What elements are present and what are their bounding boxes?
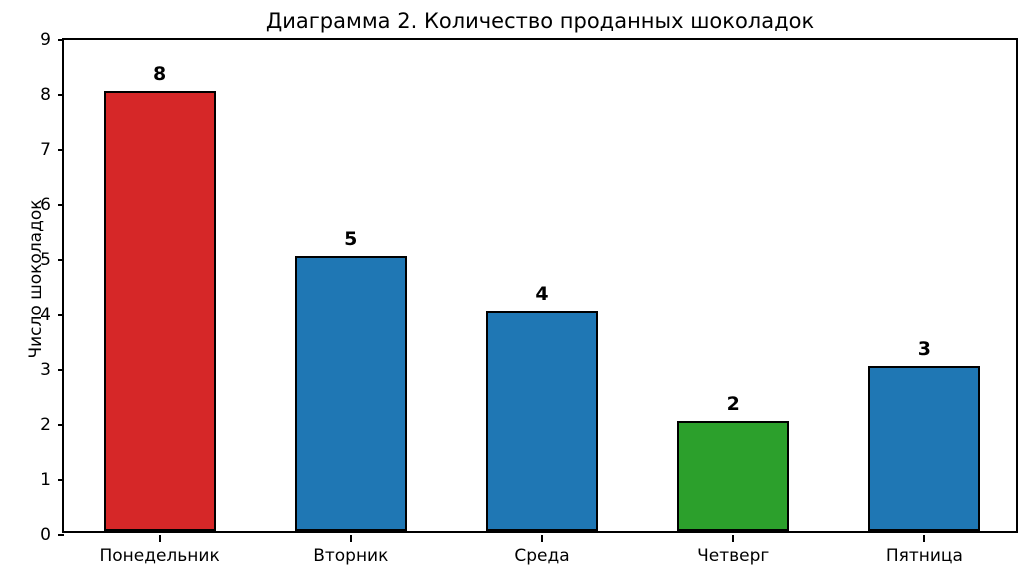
y-axis-tick-label: 9 (40, 29, 51, 51)
bar-value-label: 5 (295, 228, 407, 250)
bar-item[interactable]: 5 (295, 256, 407, 531)
y-axis-tick-label: 1 (40, 469, 51, 491)
bar-value-label: 8 (104, 63, 216, 85)
y-axis-tick-mark (58, 534, 65, 536)
y-axis-tick-mark (58, 479, 65, 481)
bar-item[interactable]: 3 (868, 366, 980, 531)
bar-item[interactable]: 8 (104, 91, 216, 531)
bar-rect[interactable] (486, 311, 598, 531)
y-axis-tick-mark (58, 259, 65, 261)
plot-area: 0123456789 ПонедельникВторникСредаЧетвер… (62, 38, 1018, 533)
bar-item[interactable]: 2 (677, 421, 789, 531)
x-axis-tick-mark (350, 535, 352, 542)
bar-value-label: 2 (677, 393, 789, 415)
y-axis-tick-label: 8 (40, 84, 51, 106)
y-axis-tick-mark (58, 204, 65, 206)
x-axis-tick-mark (732, 535, 734, 542)
bar-item[interactable]: 4 (486, 311, 598, 531)
bar-value-label: 4 (486, 283, 598, 305)
chart-title: Диаграмма 2. Количество проданных шокола… (62, 8, 1018, 34)
y-axis-tick-label: 7 (40, 139, 51, 161)
y-axis-tick-label: 5 (40, 249, 51, 271)
y-axis-tick-label: 0 (40, 524, 51, 546)
y-axis-tick-mark (58, 39, 65, 41)
y-axis-tick-mark (58, 424, 65, 426)
x-axis-tick-mark (541, 535, 543, 542)
bar-rect[interactable] (104, 91, 216, 531)
bar-value-label: 3 (868, 338, 980, 360)
y-axis-tick-mark (58, 149, 65, 151)
y-axis-tick-mark (58, 314, 65, 316)
y-axis-tick-mark (58, 369, 65, 371)
y-axis-tick-label: 3 (40, 359, 51, 381)
chart-figure: Диаграмма 2. Количество проданных шокола… (0, 0, 1034, 582)
x-axis-tick-label: Пятница (804, 546, 1034, 567)
y-axis-tick-label: 6 (40, 194, 51, 216)
y-axis-tick-mark (58, 94, 65, 96)
bar-rect[interactable] (677, 421, 789, 531)
y-axis-tick-label: 4 (40, 304, 51, 326)
x-axis-tick-mark (159, 535, 161, 542)
bar-rect[interactable] (868, 366, 980, 531)
y-axis-tick-label: 2 (40, 414, 51, 436)
bar-rect[interactable] (295, 256, 407, 531)
x-axis-tick-mark (923, 535, 925, 542)
